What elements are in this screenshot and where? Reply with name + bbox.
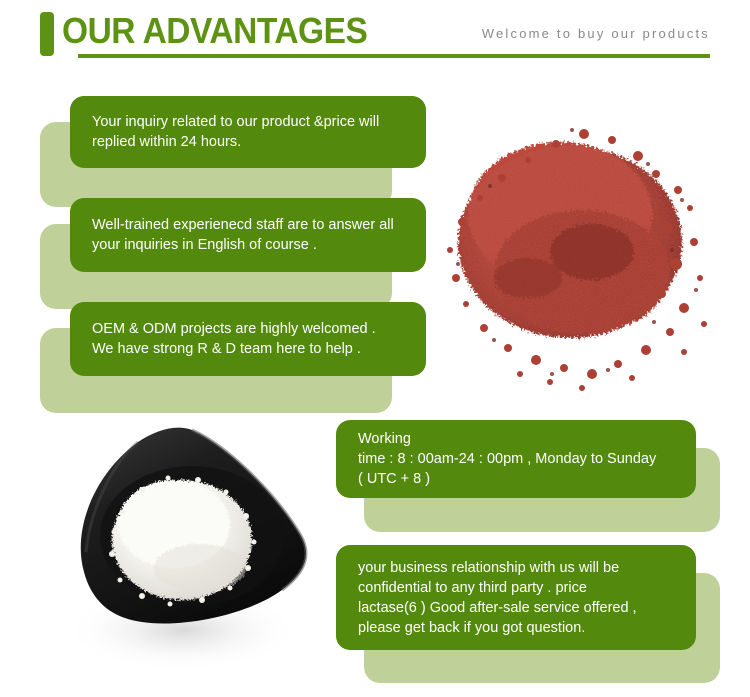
page-header: OUR ADVANTAGES Welcome to buy our produc… [0,0,750,70]
bubble-body: Working time : 8 : 00am-24 : 00pm , Mond… [336,420,696,498]
bubble-body: Your inquiry related to our product &pri… [70,96,426,168]
advantage-text: Working time : 8 : 00am-24 : 00pm , Mond… [358,429,656,489]
advantage-text: Well-trained experienecd staff are to an… [92,215,394,255]
black-dish-image [50,412,330,682]
advantages-page: OUR ADVANTAGES Welcome to buy our produc… [0,0,750,697]
bubble-body: Well-trained experienecd staff are to an… [70,198,426,272]
bubble-body: OEM & ODM projects are highly welcomed .… [70,302,426,376]
advantage-text: OEM & ODM projects are highly welcomed .… [92,319,376,359]
bubble-body: your business relationship with us will … [336,545,696,650]
advantage-text: Your inquiry related to our product &pri… [92,112,379,152]
title-accent-bar [40,12,54,56]
header-tagline: Welcome to buy our products [482,26,710,41]
advantage-text: your business relationship with us will … [358,558,637,638]
header-divider-rule [78,54,710,58]
page-title: OUR ADVANTAGES [62,9,367,53]
red-powder-image [432,82,732,402]
